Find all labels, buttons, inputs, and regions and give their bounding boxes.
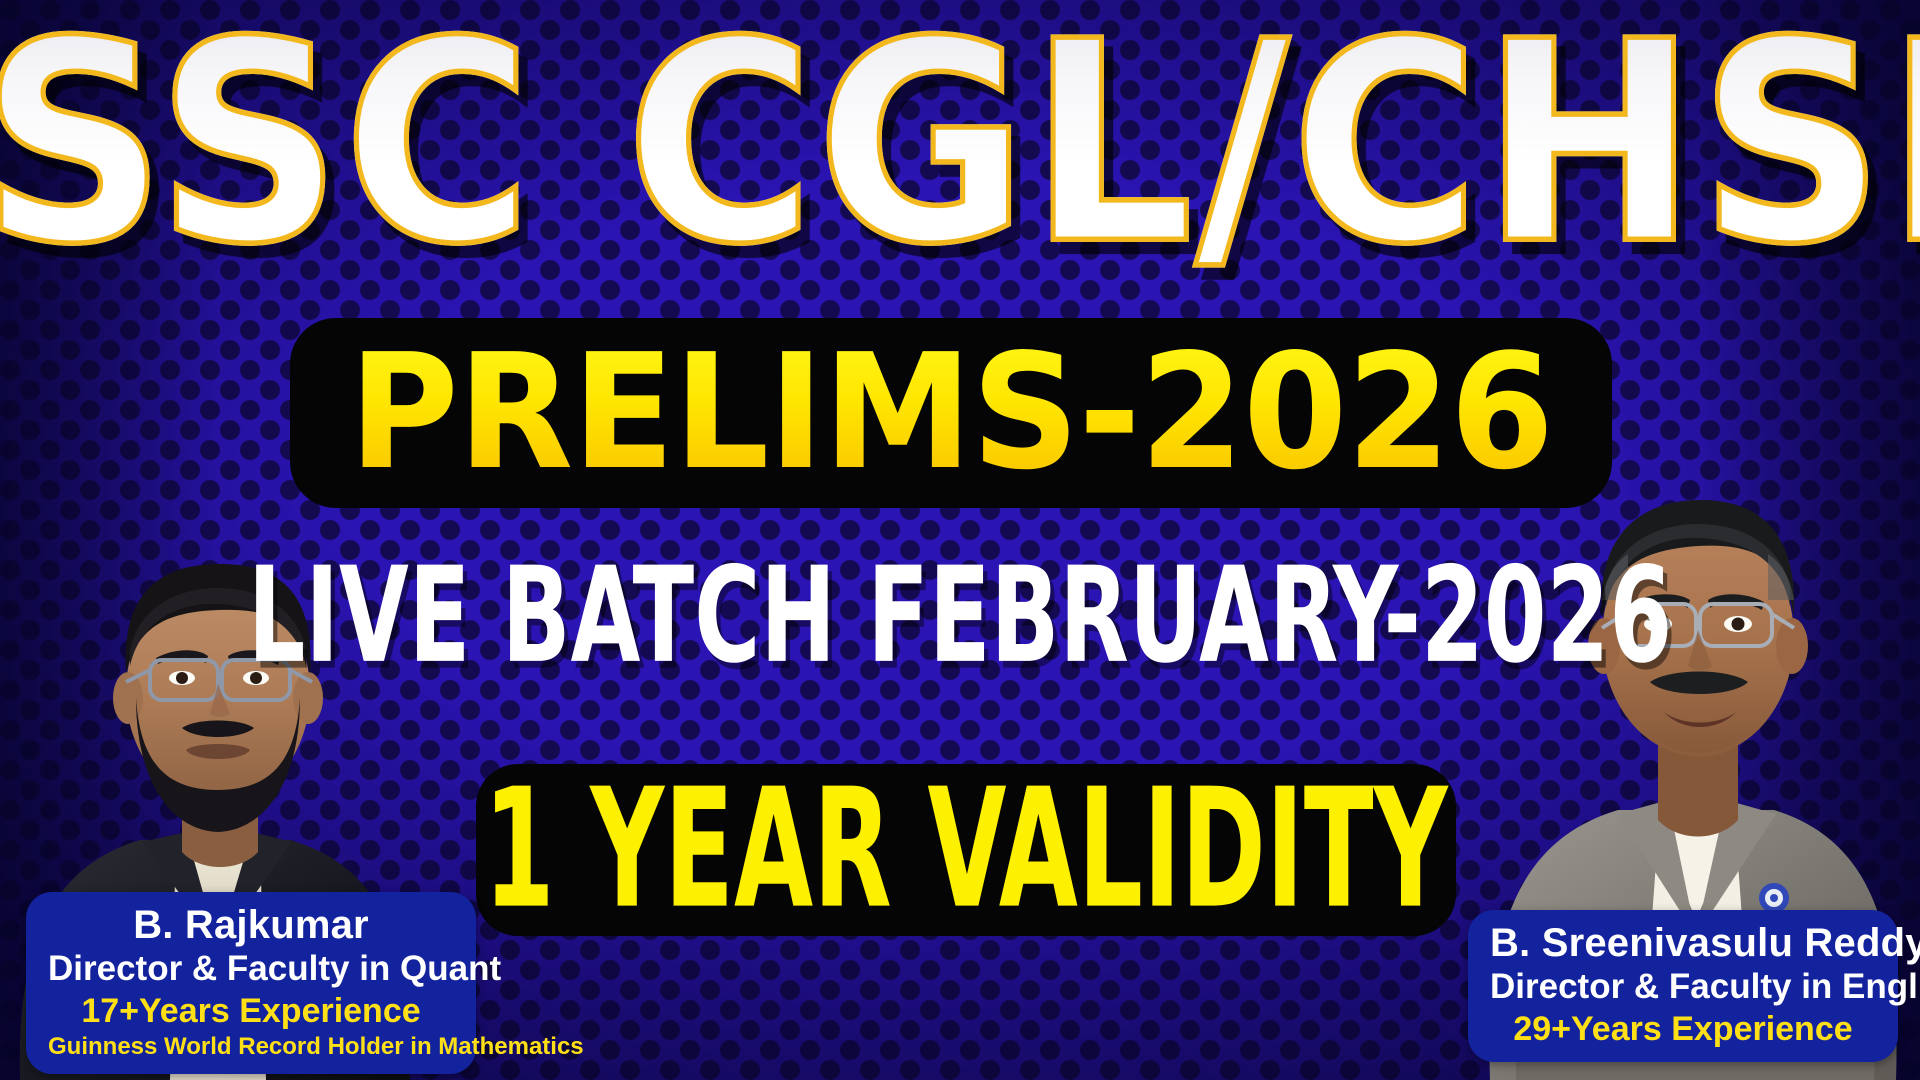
validity-panel: 1 YEAR VALIDITY [476,764,1456,936]
poster-headline: SSC CGL/CHSL [0,6,1920,283]
promo-poster: SSC CGL/CHSL PRELIMS-2026 LIVE BATCH FEB… [0,0,1920,1080]
faculty-name-left: B. Rajkumar [48,902,454,948]
faculty-role-right: Director & Faculty in English [1490,966,1876,1008]
validity-panel-label: 1 YEAR VALIDITY [484,768,1448,933]
faculty-role-left: Director & Faculty in Quant [48,948,454,990]
faculty-experience-right: 29+Years Experience [1490,1008,1876,1050]
faculty-badge-left: B. Rajkumar Director & Faculty in Quant … [26,892,476,1074]
faculty-award-left: Guinness World Record Holder in Mathemat… [48,1032,454,1062]
faculty-name-right: B. Sreenivasulu Reddy [1490,920,1876,966]
faculty-badge-right: B. Sreenivasulu Reddy Director & Faculty… [1468,910,1898,1062]
prelims-panel-label: PRELIMS-2026 [349,334,1553,493]
faculty-experience-left: 17+Years Experience [48,990,454,1032]
live-batch-line: LIVE BATCH FEBRUARY-2026 [144,549,1776,681]
prelims-panel: PRELIMS-2026 [290,318,1612,508]
